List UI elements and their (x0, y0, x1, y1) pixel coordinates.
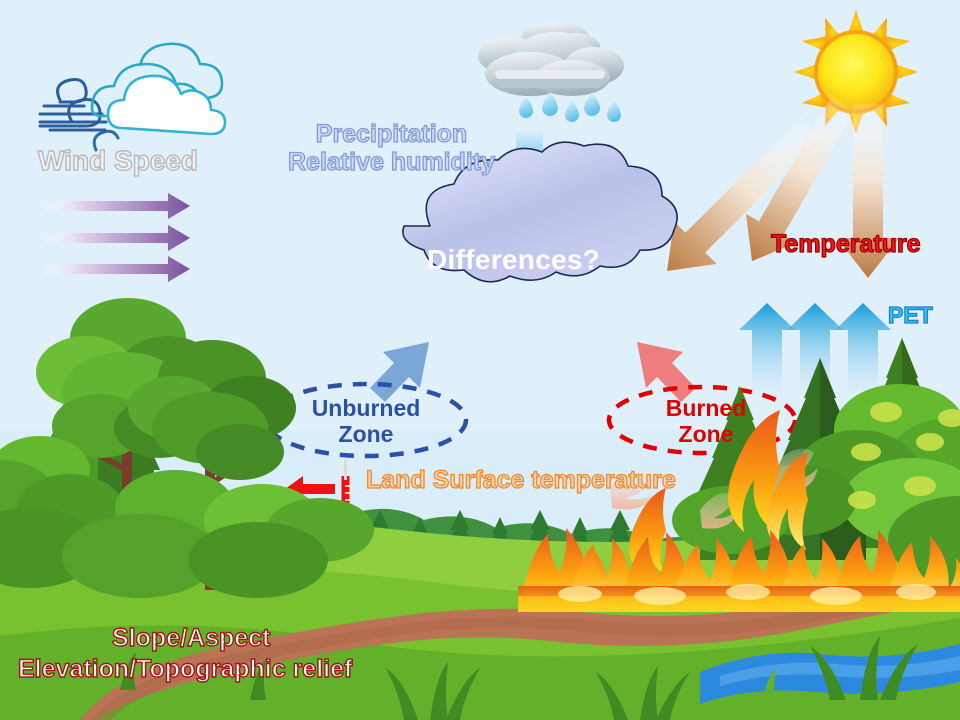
pet-label: PET (888, 303, 933, 329)
wind-speed-arrows (42, 193, 190, 282)
precipitation-line-2: Relative humidity (288, 148, 495, 176)
precipitation-label: Precipitation Relative humidity (288, 120, 495, 176)
scene-graphics (0, 0, 960, 720)
unburned-zone-line-2: Zone (296, 422, 436, 448)
unburned-zone-line-1: Unburned (296, 396, 436, 422)
unburned-zone-label: Unburned Zone (296, 396, 436, 448)
land-surface-temperature-label: Land Surface temperature (366, 466, 676, 494)
wind-speed-label: Wind Speed (38, 145, 198, 176)
slope-aspect-label: Slope/Aspect (112, 624, 270, 652)
burned-zone-line-1: Burned (641, 396, 771, 422)
differences-label: Differences? (427, 244, 600, 275)
diagram-canvas: Wind Speed Precipitation Relative humidi… (0, 0, 960, 720)
precipitation-line-1: Precipitation (288, 120, 495, 148)
burned-zone-label: Burned Zone (641, 396, 771, 448)
elevation-topographic-relief-label: Elevation/Topographic relief (18, 655, 352, 683)
burned-zone-line-2: Zone (641, 422, 771, 448)
temperature-label: Temperature (771, 230, 921, 258)
